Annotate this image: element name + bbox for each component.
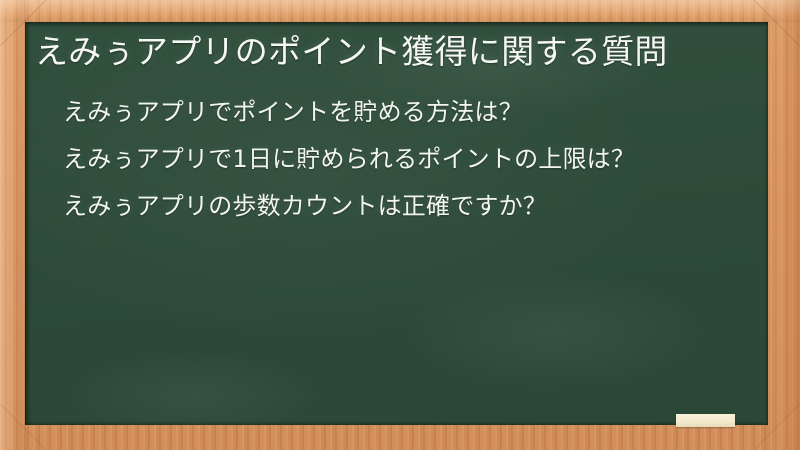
page-title: えみぅアプリのポイント獲得に関する質問 — [35, 30, 729, 73]
list-item: えみぅアプリの歩数カウントは正確ですか？ — [35, 187, 758, 226]
list-item: えみぅアプリで1日に貯められるポイントの上限は？ — [35, 140, 758, 179]
frame-top-highlight — [0, 0, 800, 22]
chalk-eraser — [676, 414, 735, 427]
slide-content: えみぅアプリのポイント獲得に関する質問 えみぅアプリでポイントを貯める方法は？ … — [35, 30, 758, 417]
frame-left-highlight — [0, 0, 26, 450]
chalkboard-slide: えみぅアプリのポイント獲得に関する質問 えみぅアプリでポイントを貯める方法は？ … — [0, 0, 800, 450]
question-list: えみぅアプリでポイントを貯める方法は？ えみぅアプリで1日に貯められるポイントの… — [35, 93, 758, 226]
frame-right-shadow — [766, 0, 800, 450]
list-item: えみぅアプリでポイントを貯める方法は？ — [35, 93, 758, 132]
chalkboard-surface: えみぅアプリのポイント獲得に関する質問 えみぅアプリでポイントを貯める方法は？ … — [25, 22, 768, 425]
